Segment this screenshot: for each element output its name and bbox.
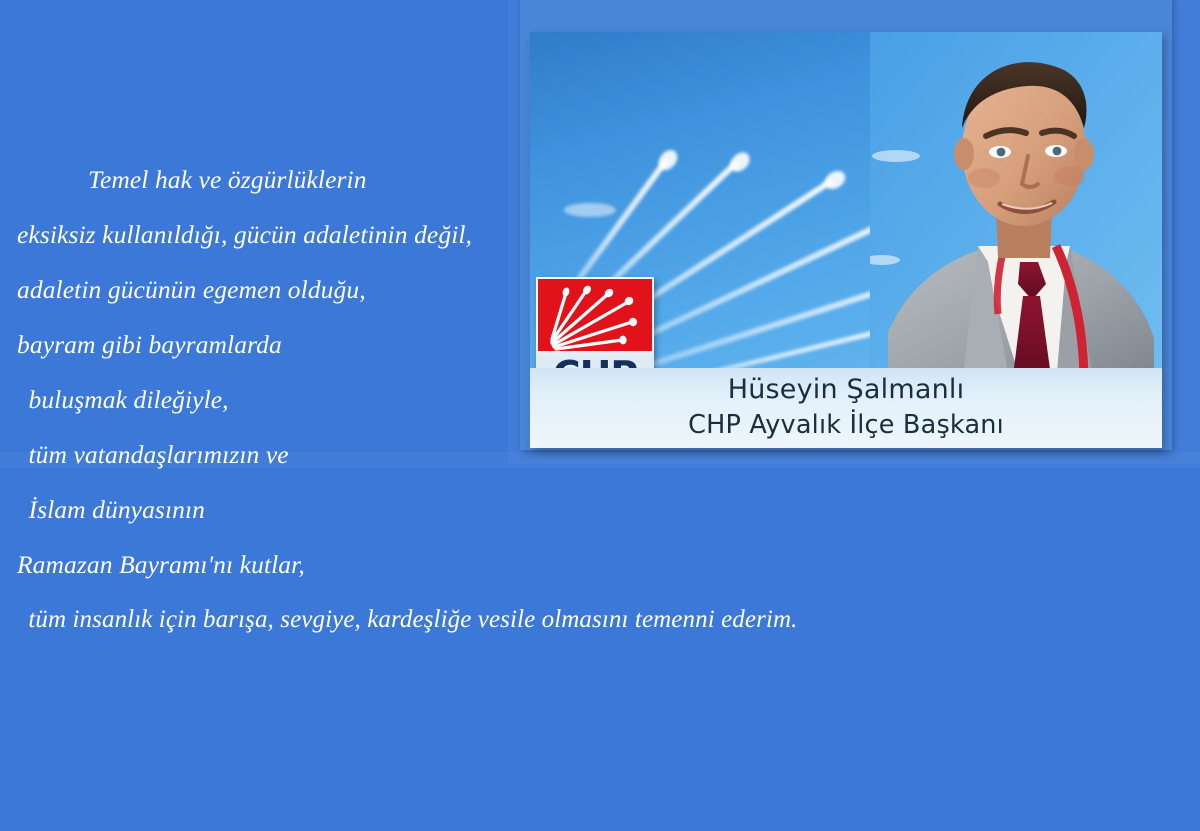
- message-line-8: Ramazan Bayramı'nı kutlar,: [0, 537, 930, 592]
- message-line-7: İslam dünyasının: [0, 482, 930, 537]
- portrait-photo: [870, 32, 1162, 384]
- nameplate: Hüseyin Şalmanlı CHP Ayvalık İlçe Başkan…: [530, 368, 1162, 448]
- candidate-photo-card: CHP Hüseyin Şalmanlı CHP Ayvalık İlçe Ba…: [530, 32, 1162, 448]
- nameplate-role: CHP Ayvalık İlçe Başkanı: [530, 409, 1162, 442]
- six-arrows-icon: [536, 277, 654, 355]
- person-illustration-icon: [870, 32, 1162, 384]
- message-line-9: tüm insanlık için barışa, sevgiye, karde…: [0, 592, 930, 647]
- presentation-slide: Temel hak ve özgürlüklerin eksiksiz kull…: [0, 0, 1200, 831]
- nameplate-name: Hüseyin Şalmanlı: [530, 368, 1162, 409]
